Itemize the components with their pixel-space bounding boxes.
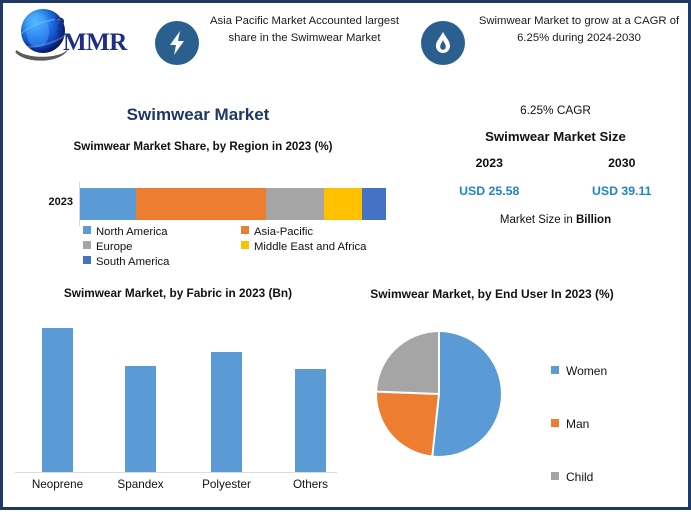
legend-row: South America — [81, 256, 381, 271]
legend-item-middle-east-and-africa[interactable]: Middle East and Africa — [241, 241, 366, 253]
fabric-bar-spandex — [125, 366, 156, 472]
fabric-axis-label-spandex: Spandex — [96, 478, 186, 491]
legend-label: Europe — [96, 241, 132, 253]
fabric-axis-label-others: Others — [266, 478, 356, 491]
fabric-axis-label-neoprene: Neoprene — [13, 478, 103, 491]
legend-label: Man — [566, 417, 589, 431]
legend-swatch-icon — [241, 226, 249, 234]
pie-slice-divider — [431, 394, 440, 456]
end-user-pie-chart: Swimwear Market, by End User In 2023 (%)… — [343, 286, 691, 511]
fabric-bar-polyester — [211, 352, 242, 472]
header: ? MMR Asia Pacific Market Accounted larg… — [3, 3, 688, 89]
unit-prefix: Market Size in — [500, 214, 576, 226]
lightning-bolt-icon — [155, 21, 199, 65]
legend-swatch-icon — [83, 256, 91, 264]
legend-row: North America Asia-Pacific — [81, 226, 381, 241]
pie-slice-divider — [438, 332, 440, 394]
legend-swatch-icon — [241, 241, 249, 249]
legend-row: Europe Middle East and Africa — [81, 241, 381, 256]
legend-swatch-icon — [83, 226, 91, 234]
legend-label: Middle East and Africa — [254, 241, 366, 253]
market-size-title: Swimwear Market Size — [423, 129, 688, 144]
value-to: USD 39.11 — [556, 184, 689, 198]
fabric-bar-neoprene — [42, 328, 73, 472]
year-to: 2030 — [556, 156, 689, 170]
year-from: 2023 — [423, 156, 556, 170]
market-size-years: 2023 2030 — [423, 156, 688, 170]
fabric-bar-others — [295, 369, 326, 472]
legend-item-child[interactable]: Child — [551, 470, 671, 523]
legend-label: South America — [96, 256, 169, 268]
market-size-unit: Market Size in Billion — [423, 214, 688, 226]
pie-chart-title: Swimwear Market, by End User In 2023 (%) — [357, 286, 627, 303]
region-segment-middle-east-and-africa — [324, 188, 362, 220]
infographic-root: ? MMR Asia Pacific Market Accounted larg… — [0, 0, 691, 510]
fabric-chart-plot: NeopreneSpandexPolyesterOthers — [3, 286, 353, 511]
market-size-values: USD 25.58 USD 39.11 — [423, 184, 688, 198]
legend-label: Asia-Pacific — [254, 226, 313, 238]
logo-text: MMR — [63, 29, 127, 57]
legend-label: North America — [96, 226, 168, 238]
legend-swatch-icon — [551, 472, 559, 480]
legend-label: Child — [566, 470, 593, 484]
legend-swatch-icon — [551, 366, 559, 374]
cagr-value: 6.25% CAGR — [423, 103, 688, 117]
region-share-chart: Swimwear Market Share, by Region in 2023… — [3, 138, 398, 283]
legend-item-women[interactable]: Women — [551, 364, 671, 417]
fabric-axis-label-polyester: Polyester — [182, 478, 272, 491]
pie-slice-divider — [377, 391, 439, 395]
legend-label: Women — [566, 364, 607, 378]
region-segment-asia-pacific — [136, 188, 266, 220]
legend-item-south-america[interactable]: South America — [83, 256, 169, 268]
market-size-panel: 6.25% CAGR Swimwear Market Size 2023 203… — [423, 103, 688, 226]
flame-icon — [421, 21, 465, 65]
fabric-bar-chart: Swimwear Market, by Fabric in 2023 (Bn) … — [3, 286, 353, 511]
region-chart-category-label: 2023 — [25, 196, 73, 208]
legend-swatch-icon — [83, 241, 91, 249]
legend-swatch-icon — [551, 419, 559, 427]
region-segment-europe — [266, 188, 324, 220]
unit-bold: Billion — [576, 214, 611, 226]
mmr-logo: ? MMR — [13, 7, 143, 65]
legend-item-north-america[interactable]: North America — [83, 226, 168, 238]
header-highlight-2-text: Swimwear Market to grow at a CAGR of 6.2… — [473, 13, 685, 46]
value-from: USD 25.58 — [423, 184, 556, 198]
page-title: Swimwear Market — [23, 105, 373, 125]
pie-chart-graphic — [377, 332, 501, 456]
legend-item-man[interactable]: Man — [551, 417, 671, 470]
legend-item-europe[interactable]: Europe — [83, 241, 132, 253]
legend-item-asia-pacific[interactable]: Asia-Pacific — [241, 226, 313, 238]
region-chart-title: Swimwear Market Share, by Region in 2023… — [38, 138, 368, 155]
region-chart-legend: North America Asia-Pacific Europe Middle… — [81, 226, 381, 271]
header-highlight-1-text: Asia Pacific Market Accounted largest sh… — [207, 13, 402, 46]
region-segment-south-america — [362, 188, 386, 220]
region-chart-stacked-bar — [80, 188, 386, 220]
pie-chart-legend: Women Man Child — [551, 364, 671, 523]
region-segment-north-america — [80, 188, 136, 220]
